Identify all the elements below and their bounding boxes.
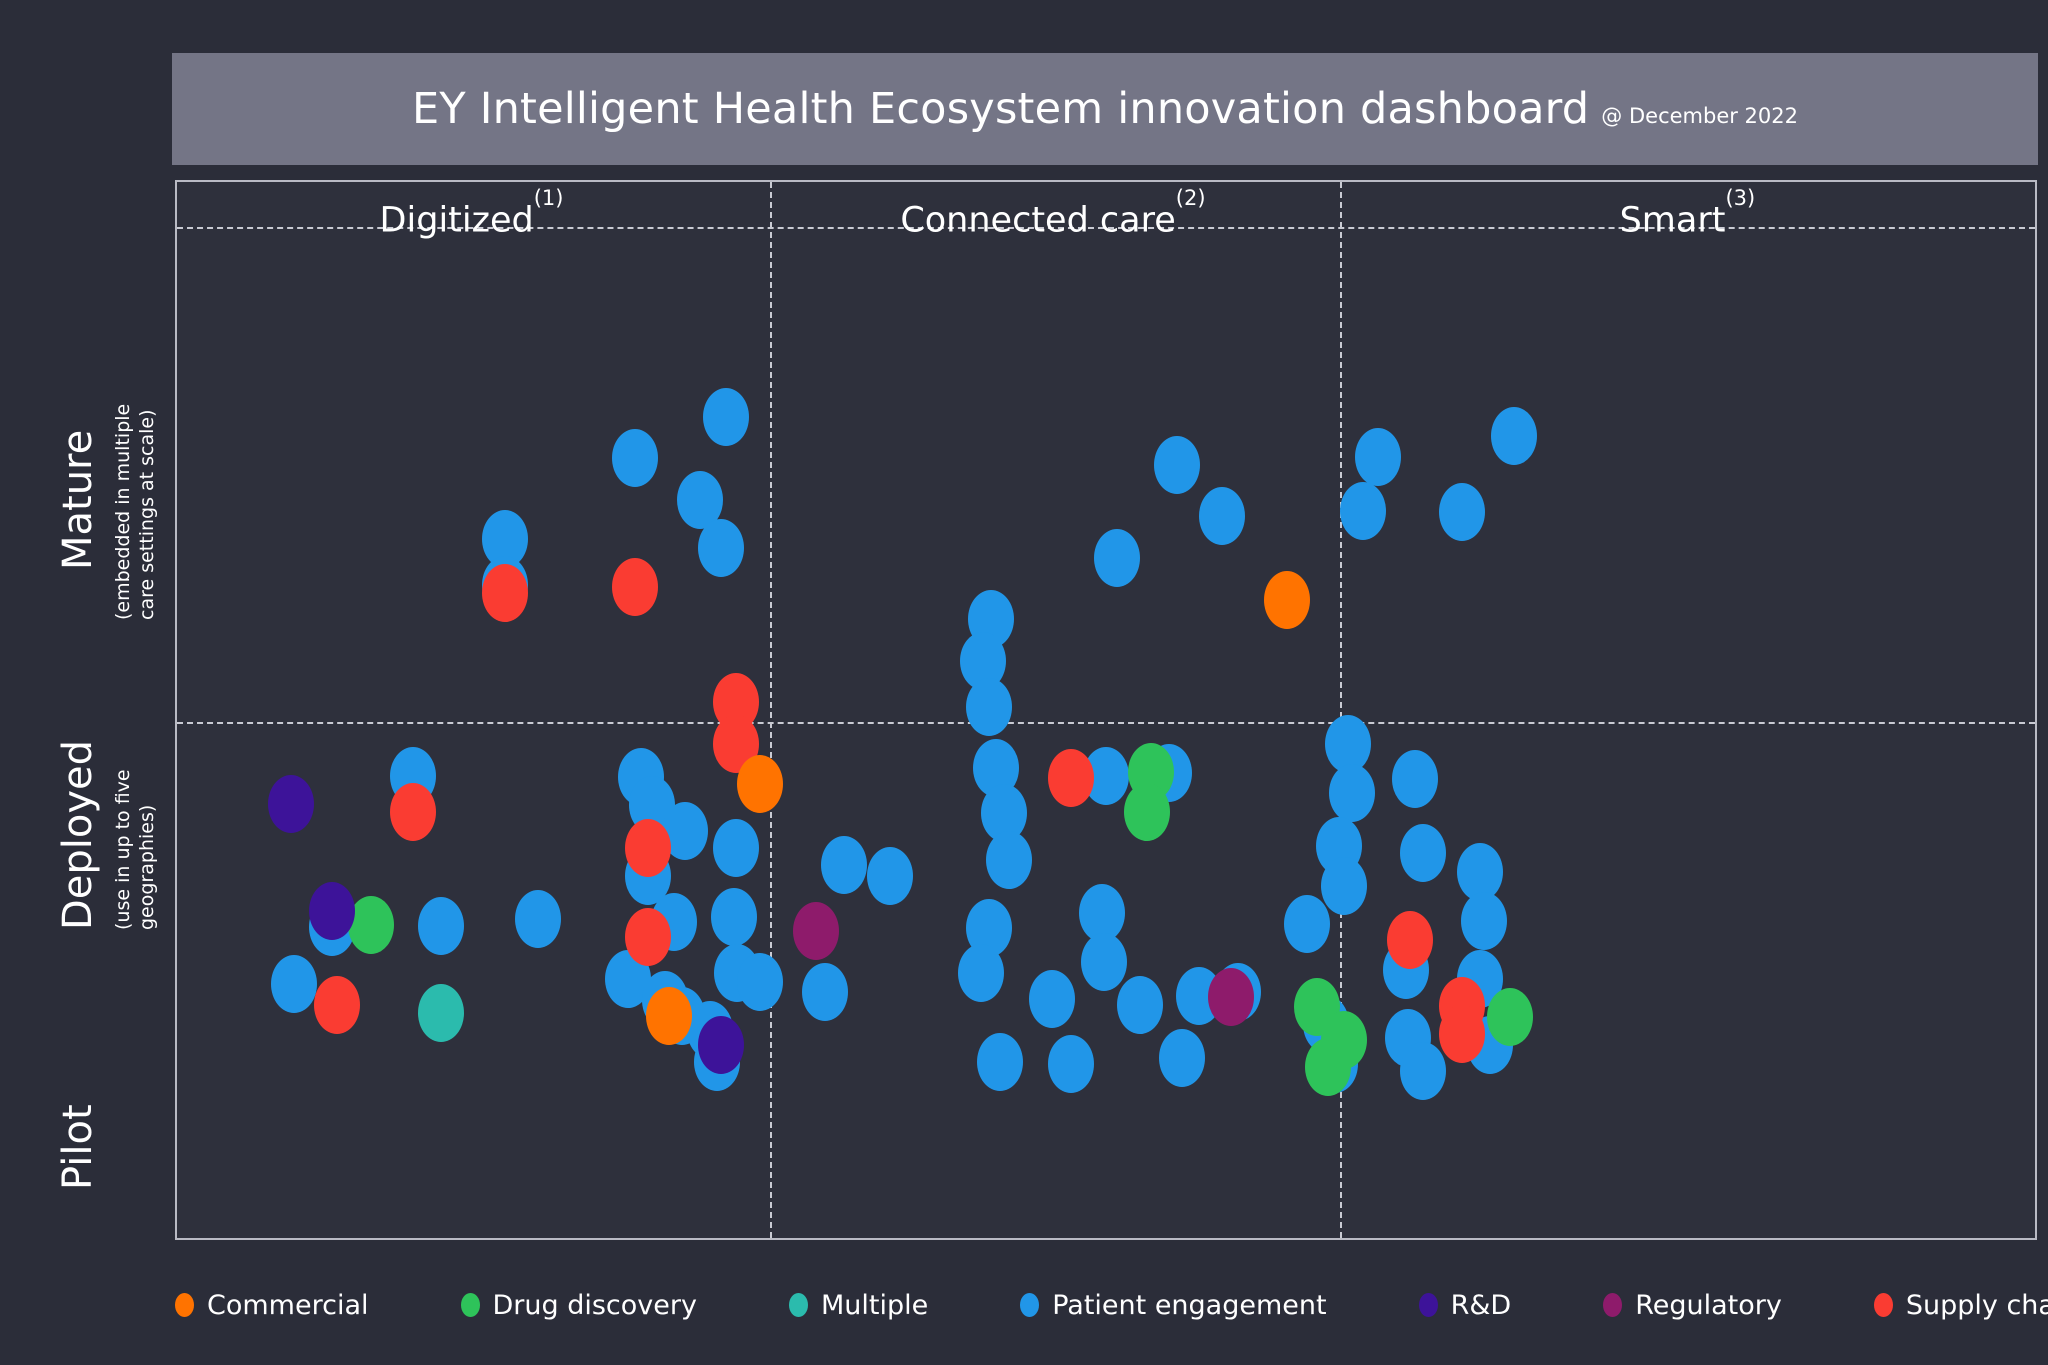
x-axis-label-connected-care: Connected care(2) (900, 200, 1205, 241)
x-axis-label-smart: Smart(3) (1620, 200, 1756, 241)
legend-swatch-icon (789, 1293, 808, 1317)
scatter-point[interactable] (1029, 970, 1075, 1028)
scatter-point[interactable] (1048, 1035, 1094, 1093)
y-axis-label-deployed: Deployed (55, 740, 101, 930)
scatter-point[interactable] (1329, 764, 1375, 822)
scatter-point[interactable] (390, 783, 436, 841)
legend-label: Drug discovery (493, 1290, 697, 1321)
legend-swatch-icon (461, 1293, 480, 1317)
scatter-point[interactable] (1439, 1005, 1485, 1063)
scatter-point[interactable] (348, 896, 394, 954)
legend-swatch-icon (1020, 1293, 1039, 1317)
legend: CommercialDrug discoveryMultiplePatient … (175, 1280, 2037, 1330)
scatter-point[interactable] (711, 888, 757, 946)
scatter-point[interactable] (314, 976, 360, 1034)
scatter-point[interactable] (977, 1033, 1023, 1091)
scatter-point[interactable] (1048, 749, 1094, 807)
y-axis-label-pilot: Pilot (55, 1104, 101, 1190)
legend-label: Regulatory (1635, 1290, 1782, 1321)
scatter-point[interactable] (1094, 529, 1140, 587)
page-title: EY Intelligent Health Ecosystem innovati… (412, 84, 1589, 134)
scatter-point[interactable] (1321, 857, 1367, 915)
scatter-point[interactable] (1264, 571, 1310, 629)
legend-label: Supply chain and operations (1906, 1290, 2048, 1321)
x-axis-label-connected-care-text: Connected care (900, 201, 1175, 241)
scatter-point[interactable] (1392, 750, 1438, 808)
scatter-point[interactable] (1491, 407, 1537, 465)
scatter-point[interactable] (1439, 483, 1485, 541)
legend-item-drug-discovery[interactable]: Drug discovery (461, 1290, 697, 1321)
legend-label: Patient engagement (1052, 1290, 1326, 1321)
scatter-point[interactable] (737, 953, 783, 1011)
scatter-point[interactable] (268, 775, 314, 833)
scatter-point[interactable] (1208, 968, 1254, 1026)
scatter-point[interactable] (515, 890, 561, 948)
y-axis-sublabel-mature: (embedded in multiple care settings at s… (112, 380, 160, 620)
scatter-point[interactable] (1387, 911, 1433, 969)
scatter-point[interactable] (271, 955, 317, 1013)
scatter-point[interactable] (1487, 988, 1533, 1046)
legend-label: R&D (1451, 1290, 1512, 1321)
legend-item-commercial[interactable]: Commercial (175, 1290, 369, 1321)
y-axis-label-mature: Mature (55, 430, 101, 570)
legend-item-r-d[interactable]: R&D (1419, 1290, 1512, 1321)
scatter-point[interactable] (698, 519, 744, 577)
scatter-point[interactable] (1284, 895, 1330, 953)
dashboard-title-bar: EY Intelligent Health Ecosystem innovati… (172, 53, 2038, 165)
scatter-point[interactable] (793, 902, 839, 960)
x-axis-label-connected-care-note: (2) (1176, 186, 1206, 210)
x-axis-label-smart-note: (3) (1725, 186, 1755, 210)
legend-item-multiple[interactable]: Multiple (789, 1290, 928, 1321)
legend-label: Commercial (207, 1290, 369, 1321)
scatter-point[interactable] (698, 1016, 744, 1074)
scatter-point[interactable] (612, 558, 658, 616)
scatter-point[interactable] (1117, 976, 1163, 1034)
x-axis-label-digitized-text: Digitized (380, 201, 534, 241)
legend-label: Multiple (821, 1290, 928, 1321)
scatter-point[interactable] (986, 831, 1032, 889)
legend-swatch-icon (1603, 1293, 1622, 1317)
chart-root: EY Intelligent Health Ecosystem innovati… (0, 0, 2048, 1365)
legend-swatch-icon (1419, 1293, 1438, 1317)
scatter-point[interactable] (1081, 933, 1127, 991)
plot-area (175, 180, 2037, 1240)
scatter-point[interactable] (1400, 1042, 1446, 1100)
y-axis-sublabel-deployed: (use in up to five geographies) (112, 690, 160, 930)
scatter-point[interactable] (867, 847, 913, 905)
legend-item-supply-chain-and-operations[interactable]: Supply chain and operations (1874, 1290, 2048, 1321)
legend-item-regulatory[interactable]: Regulatory (1603, 1290, 1782, 1321)
legend-swatch-icon (175, 1293, 194, 1317)
scatter-point[interactable] (737, 755, 783, 813)
scatter-point[interactable] (966, 678, 1012, 736)
scatter-point[interactable] (821, 836, 867, 894)
scatter-point[interactable] (1355, 428, 1401, 486)
scatter-point[interactable] (625, 819, 671, 877)
scatter-point[interactable] (1461, 892, 1507, 950)
scatter-point[interactable] (703, 388, 749, 446)
column-divider-digitized-connected (770, 182, 772, 1238)
scatter-point[interactable] (612, 429, 658, 487)
scatter-point[interactable] (1199, 487, 1245, 545)
scatter-point[interactable] (802, 963, 848, 1021)
scatter-point[interactable] (713, 819, 759, 877)
scatter-point[interactable] (418, 984, 464, 1042)
legend-swatch-icon (1874, 1293, 1893, 1317)
gridline-deployed (177, 722, 2035, 724)
scatter-point[interactable] (418, 897, 464, 955)
x-axis-label-digitized: Digitized(1) (380, 200, 564, 241)
x-axis-label-digitized-note: (1) (534, 186, 564, 210)
title-date-stamp: @ December 2022 (1601, 104, 1798, 128)
scatter-point[interactable] (1321, 1011, 1367, 1069)
legend-item-patient-engagement[interactable]: Patient engagement (1020, 1290, 1326, 1321)
scatter-point[interactable] (1154, 436, 1200, 494)
scatter-point[interactable] (1159, 1029, 1205, 1087)
scatter-point[interactable] (625, 908, 671, 966)
scatter-point[interactable] (309, 882, 355, 940)
scatter-point[interactable] (646, 987, 692, 1045)
scatter-point[interactable] (958, 944, 1004, 1002)
x-axis-label-smart-text: Smart (1620, 201, 1726, 241)
scatter-point[interactable] (1400, 824, 1446, 882)
scatter-point[interactable] (1340, 482, 1386, 540)
scatter-point[interactable] (482, 564, 528, 622)
scatter-point[interactable] (1124, 783, 1170, 841)
